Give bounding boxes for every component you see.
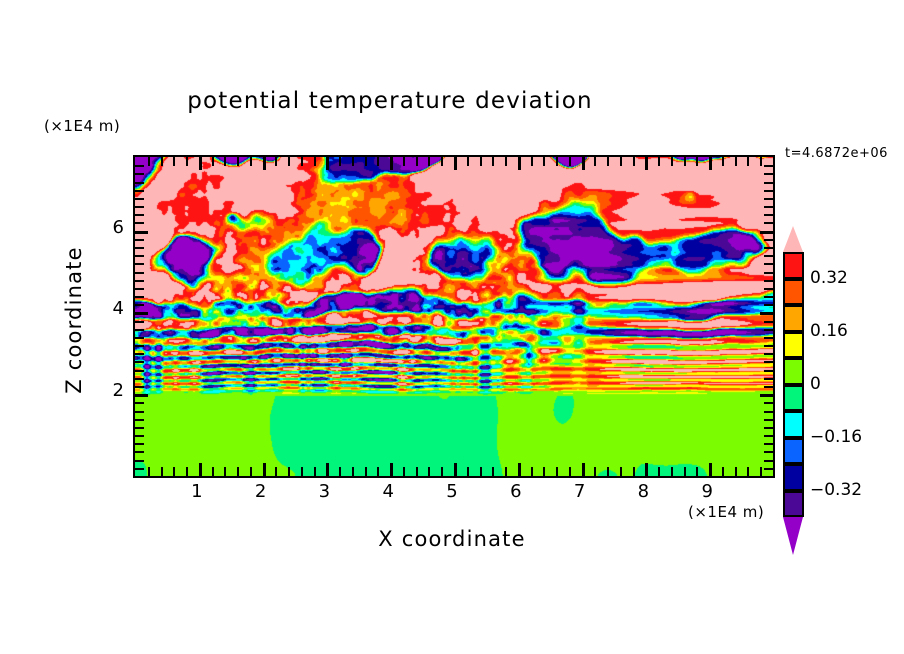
y-tick-right: [760, 394, 773, 397]
colorbar-max-arrow: [783, 226, 803, 252]
y-tick-left: [135, 394, 148, 397]
y-tick-right: [764, 427, 773, 429]
x-tick-bottom: [224, 467, 226, 476]
y-tick-label: 6: [84, 217, 124, 238]
x-tick-label: 6: [496, 481, 536, 502]
y-tick-right: [764, 329, 773, 331]
x-tick-bottom: [709, 463, 712, 476]
x-tick-bottom: [645, 463, 648, 476]
y-tick-left: [135, 280, 144, 282]
x-tick-top: [237, 157, 239, 166]
y-tick-right: [764, 214, 773, 216]
x-tick-bottom: [722, 467, 724, 476]
x-tick-bottom: [326, 463, 329, 476]
x-tick-top: [288, 157, 290, 166]
y-tick-left: [135, 222, 144, 224]
x-tick-bottom: [390, 463, 393, 476]
x-tick-bottom: [301, 467, 303, 476]
y-tick-left: [135, 321, 144, 323]
y-tick-right: [764, 304, 773, 306]
y-tick-left: [135, 206, 144, 208]
x-tick-top: [658, 157, 660, 166]
x-tick-bottom: [633, 467, 635, 476]
x-tick-top: [377, 157, 379, 166]
x-tick-label: 2: [241, 481, 281, 502]
x-tick-bottom: [377, 467, 379, 476]
x-axis-label: X coordinate: [133, 527, 771, 551]
y-tick-right: [764, 321, 773, 323]
y-tick-right: [764, 182, 773, 184]
x-tick-top: [275, 157, 277, 166]
y-tick-right: [760, 312, 773, 315]
colorbar-tick-label: 0: [810, 374, 821, 394]
x-tick-bottom: [339, 467, 341, 476]
x-tick-top: [454, 157, 457, 170]
y-tick-left: [135, 402, 144, 404]
x-tick-top: [582, 157, 585, 170]
y-axis-label: Z coordinate: [62, 220, 86, 420]
x-tick-bottom: [352, 467, 354, 476]
x-tick-bottom: [684, 467, 686, 476]
colorbar-segment: [783, 385, 804, 412]
x-tick-top: [760, 157, 762, 166]
x-tick-top: [314, 157, 316, 166]
y-tick-left: [135, 451, 144, 453]
x-tick-bottom: [594, 467, 596, 476]
y-tick-left: [135, 255, 144, 257]
y-tick-left: [135, 419, 144, 421]
x-tick-top: [620, 157, 622, 166]
y-tick-left: [135, 247, 144, 249]
x-tick-top: [735, 157, 737, 166]
x-tick-label: 9: [687, 481, 727, 502]
x-tick-top: [480, 157, 482, 166]
y-tick-left: [135, 214, 144, 216]
y-tick-left: [135, 337, 144, 339]
y-tick-right: [764, 263, 773, 265]
y-tick-right: [764, 411, 773, 413]
x-tick-bottom: [237, 467, 239, 476]
x-tick-top: [722, 157, 724, 166]
y-tick-left: [135, 435, 144, 437]
x-tick-top: [199, 157, 202, 170]
colorbar-min-arrow: [783, 517, 803, 555]
y-tick-right: [764, 190, 773, 192]
y-tick-right: [764, 337, 773, 339]
y-tick-right: [764, 288, 773, 290]
x-tick-top: [594, 157, 596, 166]
x-tick-top: [326, 157, 329, 170]
x-tick-top: [173, 157, 175, 166]
y-tick-left: [135, 296, 144, 298]
x-tick-top: [390, 157, 393, 170]
y-tick-right: [764, 296, 773, 298]
x-tick-top: [671, 157, 673, 166]
x-tick-top: [301, 157, 303, 166]
x-tick-top: [645, 157, 648, 170]
x-tick-bottom: [250, 467, 252, 476]
contour-field: [135, 157, 773, 476]
colorbar-tick-label: −0.16: [810, 427, 862, 447]
x-tick-bottom: [314, 467, 316, 476]
colorbar-segment: [783, 438, 804, 465]
y-tick-right: [764, 280, 773, 282]
y-tick-right: [764, 345, 773, 347]
colorbar-tick-label: −0.32: [810, 480, 862, 500]
colorbar-segment: [783, 252, 804, 279]
y-tick-left: [135, 329, 144, 331]
x-tick-bottom: [492, 467, 494, 476]
x-tick-top: [186, 157, 188, 166]
x-tick-top: [428, 157, 430, 166]
y-tick-left: [135, 304, 144, 306]
x-tick-top: [696, 157, 698, 166]
x-tick-bottom: [467, 467, 469, 476]
x-tick-top: [212, 157, 214, 166]
x-tick-bottom: [365, 467, 367, 476]
x-tick-bottom: [454, 463, 457, 476]
y-tick-right: [764, 272, 773, 274]
y-tick-right: [764, 173, 773, 175]
x-tick-top: [505, 157, 507, 166]
x-tick-top: [263, 157, 266, 170]
x-tick-bottom: [658, 467, 660, 476]
y-tick-right: [764, 247, 773, 249]
x-tick-top: [518, 157, 521, 170]
x-tick-bottom: [441, 467, 443, 476]
y-tick-right: [764, 198, 773, 200]
x-tick-label: 7: [560, 481, 600, 502]
x-tick-top: [684, 157, 686, 166]
colorbar-segment: [783, 411, 804, 438]
y-tick-label: 4: [84, 298, 124, 319]
y-tick-left: [135, 239, 144, 241]
y-tick-right: [764, 206, 773, 208]
y-axis-unit-label: (×1E4 m): [44, 117, 120, 135]
x-tick-top: [250, 157, 252, 166]
x-tick-top: [569, 157, 571, 166]
x-tick-bottom: [428, 467, 430, 476]
y-tick-left: [135, 361, 144, 363]
y-tick-left: [135, 165, 144, 167]
colorbar-tick-label: 0.32: [810, 268, 848, 288]
x-tick-bottom: [747, 467, 749, 476]
x-tick-top: [161, 157, 163, 166]
y-tick-left: [135, 312, 148, 315]
x-tick-bottom: [505, 467, 507, 476]
x-tick-top: [224, 157, 226, 166]
x-tick-top: [416, 157, 418, 166]
x-axis-unit-label: (×1E4 m): [688, 503, 764, 521]
y-tick-left: [135, 427, 144, 429]
x-tick-label: 4: [368, 481, 408, 502]
x-tick-bottom: [531, 467, 533, 476]
y-tick-right: [764, 353, 773, 355]
x-tick-bottom: [543, 467, 545, 476]
colorbar-segment: [783, 332, 804, 359]
y-tick-left: [135, 468, 144, 470]
y-tick-left: [135, 231, 148, 234]
x-tick-bottom: [556, 467, 558, 476]
y-tick-right: [764, 255, 773, 257]
x-tick-bottom: [607, 467, 609, 476]
colorbar-segment: [783, 279, 804, 306]
x-tick-bottom: [288, 467, 290, 476]
x-tick-bottom: [199, 463, 202, 476]
x-tick-bottom: [416, 467, 418, 476]
x-tick-bottom: [760, 467, 762, 476]
x-tick-top: [633, 157, 635, 166]
x-tick-label: 1: [177, 481, 217, 502]
colorbar-segment: [783, 358, 804, 385]
y-tick-right: [764, 222, 773, 224]
x-tick-label: 5: [432, 481, 472, 502]
y-tick-right: [760, 231, 773, 234]
x-tick-bottom: [403, 467, 405, 476]
y-tick-left: [135, 411, 144, 413]
y-tick-left: [135, 198, 144, 200]
colorbar-segment: [783, 464, 804, 491]
x-tick-top: [148, 157, 150, 166]
x-tick-bottom: [671, 467, 673, 476]
y-tick-left: [135, 182, 144, 184]
x-tick-label: 8: [623, 481, 663, 502]
page-title: potential temperature deviation: [0, 88, 780, 114]
colorbar-segment: [783, 305, 804, 332]
time-annotation: t=4.6872e+06: [785, 146, 888, 161]
y-tick-right: [764, 435, 773, 437]
y-tick-left: [135, 386, 144, 388]
y-tick-right: [764, 370, 773, 372]
y-tick-right: [764, 361, 773, 363]
y-tick-right: [764, 460, 773, 462]
y-tick-left: [135, 443, 144, 445]
x-tick-bottom: [480, 467, 482, 476]
y-tick-label: 2: [84, 380, 124, 401]
x-tick-bottom: [173, 467, 175, 476]
colorbar-tick-label: 0.16: [810, 321, 848, 341]
x-tick-bottom: [186, 467, 188, 476]
y-tick-left: [135, 345, 144, 347]
x-tick-top: [467, 157, 469, 166]
y-tick-right: [764, 468, 773, 470]
x-tick-bottom: [518, 463, 521, 476]
y-tick-left: [135, 190, 144, 192]
x-tick-bottom: [569, 467, 571, 476]
y-tick-left: [135, 263, 144, 265]
x-tick-top: [607, 157, 609, 166]
x-tick-bottom: [696, 467, 698, 476]
y-tick-left: [135, 378, 144, 380]
y-tick-right: [764, 451, 773, 453]
x-tick-top: [365, 157, 367, 166]
x-tick-bottom: [620, 467, 622, 476]
y-tick-left: [135, 370, 144, 372]
x-tick-label: 3: [304, 481, 344, 502]
x-tick-top: [709, 157, 712, 170]
figure-canvas: potential temperature deviation (×1E4 m)…: [0, 0, 904, 654]
y-tick-left: [135, 288, 144, 290]
x-tick-bottom: [148, 467, 150, 476]
y-tick-right: [764, 443, 773, 445]
x-tick-bottom: [212, 467, 214, 476]
x-tick-top: [531, 157, 533, 166]
x-tick-bottom: [735, 467, 737, 476]
contour-plot-area[interactable]: [133, 155, 775, 478]
x-tick-top: [403, 157, 405, 166]
x-tick-top: [441, 157, 443, 166]
y-tick-right: [764, 239, 773, 241]
x-tick-top: [543, 157, 545, 166]
x-tick-bottom: [275, 467, 277, 476]
y-tick-right: [764, 165, 773, 167]
x-tick-top: [556, 157, 558, 166]
y-tick-left: [135, 272, 144, 274]
y-tick-left: [135, 173, 144, 175]
x-tick-bottom: [582, 463, 585, 476]
y-tick-right: [764, 419, 773, 421]
y-tick-left: [135, 353, 144, 355]
x-tick-bottom: [161, 467, 163, 476]
y-tick-right: [764, 402, 773, 404]
x-tick-bottom: [263, 463, 266, 476]
x-tick-top: [352, 157, 354, 166]
y-tick-right: [764, 386, 773, 388]
y-tick-left: [135, 460, 144, 462]
x-tick-top: [492, 157, 494, 166]
x-tick-top: [747, 157, 749, 166]
colorbar-segment: [783, 491, 804, 518]
x-tick-top: [339, 157, 341, 166]
y-tick-right: [764, 378, 773, 380]
